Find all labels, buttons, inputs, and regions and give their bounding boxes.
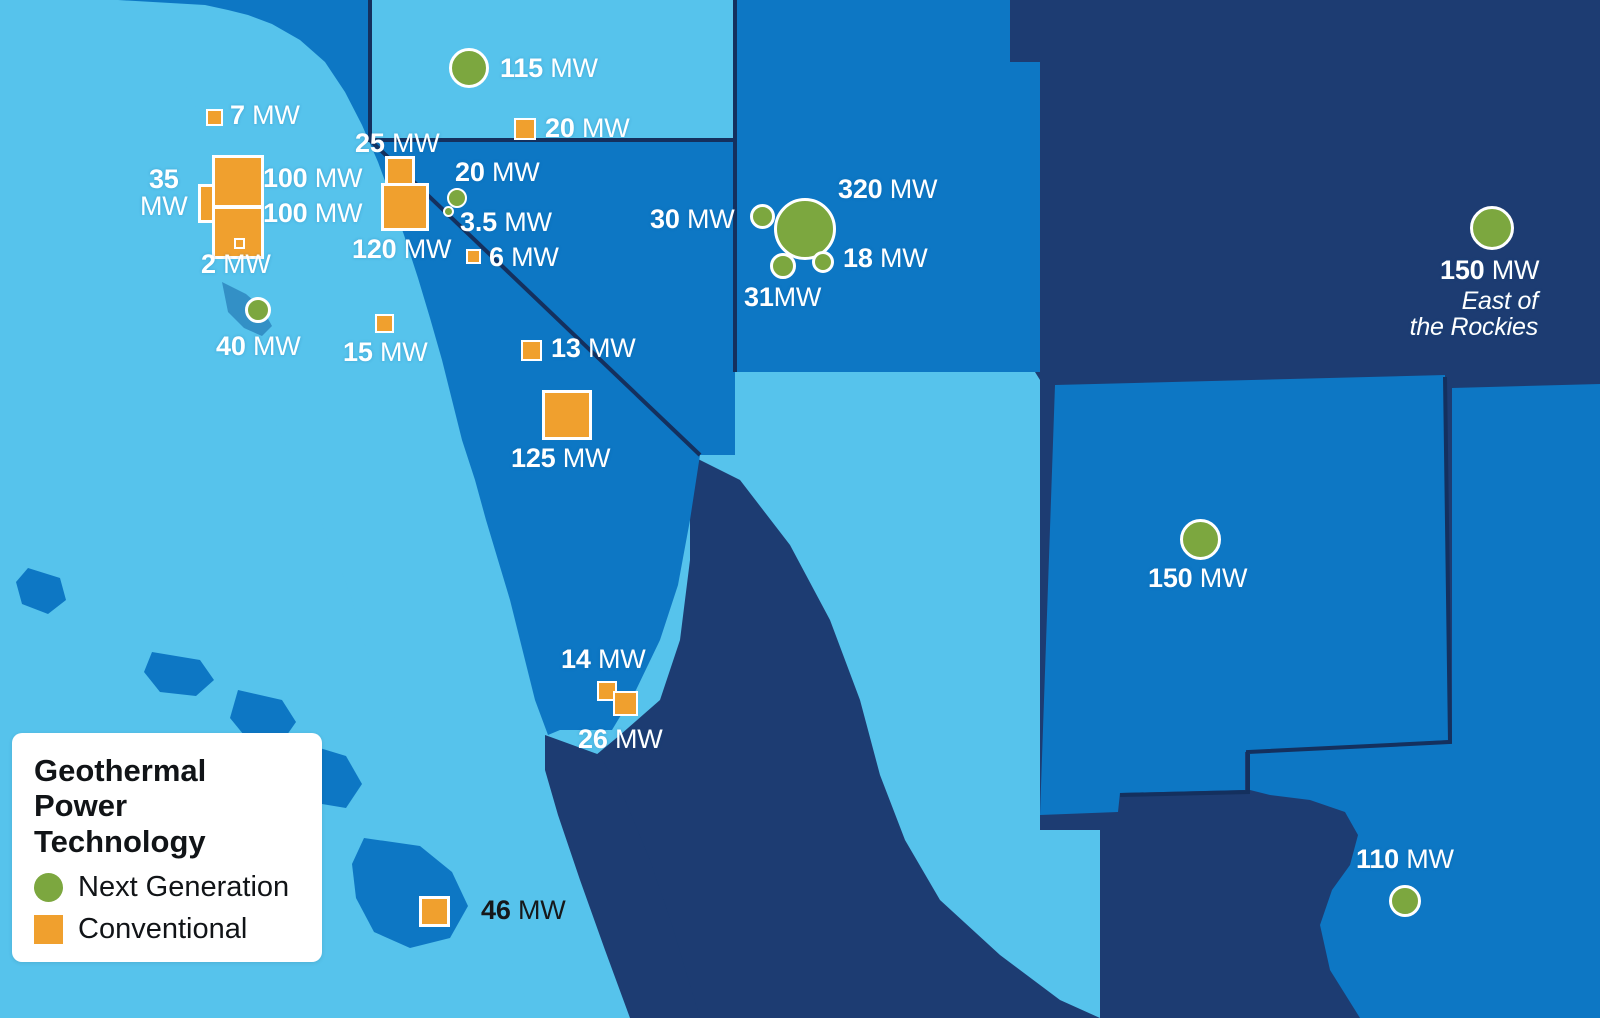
label-east-of-rockies-line1: East of (1330, 288, 1538, 314)
label-100mw-upper-unit: MW (307, 163, 362, 193)
label-14mw-unit: MW (591, 644, 646, 674)
label-100mw-lower-unit: MW (307, 198, 362, 228)
label-100mw-upper: 100 MW (263, 164, 362, 192)
label-20mw-central: 20 MW (455, 158, 540, 186)
label-115mw: 115 MW (500, 54, 598, 82)
label-2mw: 2 MW (201, 250, 271, 278)
label-20mw-central-unit: MW (485, 157, 540, 187)
label-46mw-unit: MW (511, 895, 566, 925)
label-30mw-unit: MW (680, 204, 735, 234)
label-35mw: 35 MW (140, 166, 188, 220)
marker-conventional-2mw[interactable] (234, 238, 245, 249)
next-generation-circle-icon (34, 873, 63, 902)
marker-conventional-125mw[interactable] (542, 390, 592, 440)
label-3p5mw-value: 3.5 (460, 207, 497, 237)
label-150mw-east-of-rockies: 150 MW (1440, 256, 1539, 284)
label-2mw-value: 2 (201, 249, 216, 279)
marker-nextgen-40mw[interactable] (245, 297, 271, 323)
label-2mw-unit: MW (216, 249, 271, 279)
label-320mw: 320 MW (838, 175, 937, 203)
marker-nextgen-150mw-newmexico[interactable] (1180, 519, 1221, 560)
label-14mw: 14 MW (561, 645, 646, 673)
label-20mw-central-value: 20 (455, 157, 485, 187)
marker-conventional-7mw[interactable] (206, 109, 223, 126)
legend-title-line1: Geothermal (34, 753, 304, 788)
label-31mw-value: 31 (744, 282, 774, 312)
label-125mw-unit: MW (555, 443, 610, 473)
label-150mw-east-value: 150 (1440, 255, 1484, 285)
label-13mw-unit: MW (581, 333, 636, 363)
label-20mw-ne: 20 MW (545, 114, 630, 142)
label-15mw-value: 15 (343, 337, 373, 367)
label-east-of-rockies-line2: the Rockies (1330, 314, 1538, 340)
label-100mw-lower: 100 MW (263, 199, 362, 227)
label-320mw-unit: MW (882, 174, 937, 204)
label-3p5mw-unit: MW (497, 207, 552, 237)
label-18mw-unit: MW (873, 243, 928, 273)
label-7mw-unit: MW (245, 100, 300, 130)
label-110mw-texas-unit: MW (1399, 844, 1454, 874)
label-30mw: 30 MW (650, 205, 735, 233)
label-13mw-value: 13 (551, 333, 581, 363)
label-20mw-ne-value: 20 (545, 113, 575, 143)
label-31mw-unit: MW (774, 282, 822, 312)
label-150mw-newmexico-unit: MW (1192, 563, 1247, 593)
marker-nextgen-31mw[interactable] (770, 253, 796, 279)
geothermal-map: 7 MW 35 MW 100 MW 100 MW 2 MW 40 MW 15 M… (0, 0, 1600, 1018)
label-3p5mw: 3.5 MW (460, 208, 552, 236)
marker-conventional-13mw[interactable] (521, 340, 542, 361)
marker-conventional-25mw[interactable] (385, 156, 415, 186)
marker-conventional-46mw[interactable] (419, 896, 450, 927)
marker-nextgen-115mw[interactable] (449, 48, 489, 88)
label-46mw-value: 46 (481, 895, 511, 925)
legend-panel: Geothermal Power Technology Next Generat… (12, 733, 322, 962)
label-25mw: 25 MW (355, 129, 440, 157)
label-east-of-rockies-note: East of the Rockies (1330, 288, 1538, 341)
label-7mw: 7 MW (230, 101, 300, 129)
label-35mw-unit: MW (140, 191, 188, 221)
label-20mw-ne-unit: MW (575, 113, 630, 143)
label-150mw-newmexico: 150 MW (1148, 564, 1247, 592)
label-30mw-value: 30 (650, 204, 680, 234)
label-40mw-value: 40 (216, 331, 246, 361)
legend-title-line2: Power (34, 788, 304, 823)
marker-conventional-6mw[interactable] (466, 249, 481, 264)
legend-item-next-generation[interactable]: Next Generation (34, 873, 304, 902)
label-25mw-value: 25 (355, 128, 385, 158)
label-6mw-value: 6 (489, 242, 504, 272)
label-18mw-value: 18 (843, 243, 873, 273)
label-6mw-unit: MW (504, 242, 559, 272)
legend-title-line3: Technology (34, 824, 304, 859)
label-120mw-value: 120 (352, 234, 396, 264)
label-150mw-newmexico-value: 150 (1148, 563, 1192, 593)
label-320mw-value: 320 (838, 174, 882, 204)
label-26mw: 26 MW (578, 725, 663, 753)
label-120mw-unit: MW (396, 234, 451, 264)
label-18mw: 18 MW (843, 244, 928, 272)
label-6mw: 6 MW (489, 243, 559, 271)
conventional-square-icon (34, 915, 63, 944)
label-120mw: 120 MW (352, 235, 451, 263)
label-115mw-value: 115 (500, 53, 543, 83)
state-utah-notch (1010, 0, 1040, 62)
marker-nextgen-150mw-east-of-rockies[interactable] (1470, 206, 1514, 250)
label-100mw-upper-value: 100 (263, 163, 307, 193)
marker-nextgen-3p5mw[interactable] (443, 206, 454, 217)
marker-nextgen-20mw[interactable] (447, 188, 467, 208)
label-125mw-value: 125 (511, 443, 555, 473)
label-100mw-lower-value: 100 (263, 198, 307, 228)
label-110mw-texas-value: 110 (1356, 844, 1399, 874)
label-115mw-unit: MW (543, 53, 598, 83)
marker-conventional-26mw[interactable] (613, 691, 638, 716)
label-110mw-texas: 110 MW (1356, 845, 1454, 873)
marker-nextgen-18mw[interactable] (812, 251, 834, 273)
label-40mw-unit: MW (246, 331, 301, 361)
label-46mw: 46 MW (481, 896, 566, 924)
marker-conventional-120mw[interactable] (381, 183, 429, 231)
label-150mw-east-unit: MW (1484, 255, 1539, 285)
marker-nextgen-30mw[interactable] (750, 204, 775, 229)
label-26mw-value: 26 (578, 724, 608, 754)
label-31mw: 31MW (744, 283, 821, 311)
label-15mw-unit: MW (373, 337, 428, 367)
legend-item-conventional[interactable]: Conventional (34, 915, 304, 944)
label-7mw-value: 7 (230, 100, 245, 130)
label-14mw-value: 14 (561, 644, 591, 674)
label-40mw: 40 MW (216, 332, 301, 360)
legend-item-conventional-label: Conventional (78, 915, 247, 944)
legend-item-next-generation-label: Next Generation (78, 873, 289, 902)
label-13mw: 13 MW (551, 334, 636, 362)
label-25mw-unit: MW (385, 128, 440, 158)
marker-conventional-15mw[interactable] (375, 314, 394, 333)
label-15mw: 15 MW (343, 338, 428, 366)
label-35mw-value: 35 (149, 164, 179, 194)
marker-conventional-100mw-upper[interactable] (212, 155, 264, 208)
label-26mw-unit: MW (608, 724, 663, 754)
label-125mw: 125 MW (511, 444, 610, 472)
legend-title: Geothermal Power Technology (34, 753, 304, 859)
marker-nextgen-110mw-texas[interactable] (1389, 885, 1421, 917)
marker-conventional-20mw[interactable] (514, 118, 536, 140)
